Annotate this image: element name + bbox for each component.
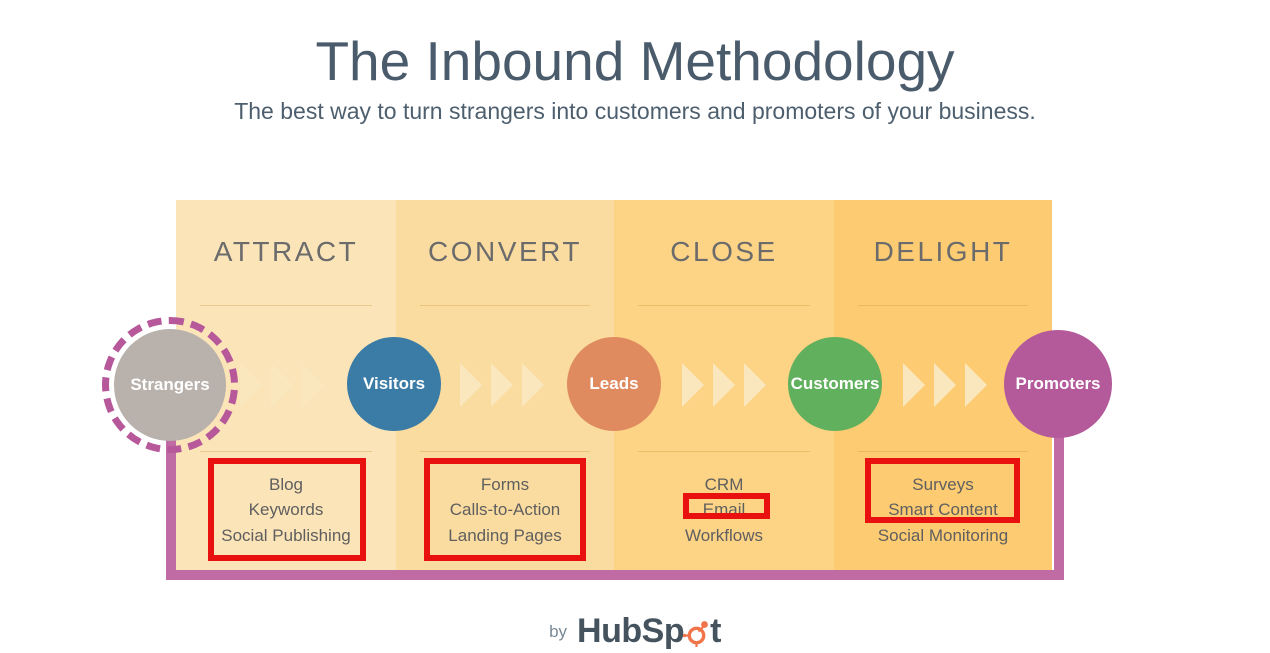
stage-rule-bottom [420,451,590,452]
chevron-right-icon [682,363,704,407]
stage-label-delight: DELIGHT [834,236,1052,268]
stage-rule-top [858,305,1028,306]
stage-label-close: CLOSE [614,236,834,268]
stage-rule-top [420,305,590,306]
inbound-methodology-graphic: The Inbound Methodology The best way to … [0,0,1270,653]
tool-list-delight: Surveys Smart Content Social Monitoring [834,472,1052,549]
persona-circle-strangers[interactable]: Strangers [114,329,226,441]
chevron-right-icon [744,363,766,407]
persona-circle-customers[interactable]: Customers [788,337,882,431]
persona-circle-visitors[interactable]: Visitors [347,337,441,431]
tool-list-attract: Blog Keywords Social Publishing [176,472,396,549]
stage-rule-bottom [638,451,810,452]
arrow-group [460,363,544,407]
page-title: The Inbound Methodology [0,33,1270,91]
stage-label-convert: CONVERT [396,236,614,268]
arrow-group [240,363,324,407]
chevron-right-icon [460,363,482,407]
tool-item[interactable]: Blog [176,472,396,498]
hubspot-wordmark-tail: t [710,612,721,651]
hubspot-sprocket-icon [683,620,709,650]
persona-label: Promoters [1015,374,1100,394]
persona-label: Leads [589,374,638,394]
tool-item[interactable]: Email [614,497,834,523]
chevron-right-icon [934,363,956,407]
tool-item[interactable]: Workflows [614,523,834,549]
persona-circle-promoters[interactable]: Promoters [1004,330,1112,438]
persona-label: Visitors [363,374,425,394]
by-label: by [549,622,567,642]
chevron-right-icon [240,363,262,407]
tool-item[interactable]: Social Monitoring [834,523,1052,549]
chevron-right-icon [903,363,925,407]
tool-list-convert: Forms Calls-to-Action Landing Pages [396,472,614,549]
stage-rule-top [200,305,372,306]
tool-item[interactable]: Surveys [834,472,1052,498]
chevron-right-icon [271,363,293,407]
tool-item[interactable]: CRM [614,472,834,498]
persona-circle-leads[interactable]: Leads [567,337,661,431]
chevron-right-icon [522,363,544,407]
tool-item[interactable]: Landing Pages [396,523,614,549]
chevron-right-icon [965,363,987,407]
tool-list-close: CRM Email Workflows [614,472,834,549]
arrow-group [682,363,766,407]
chevron-right-icon [491,363,513,407]
page-subtitle: The best way to turn strangers into cust… [0,98,1270,125]
tool-item[interactable]: Social Publishing [176,523,396,549]
hubspot-logo[interactable]: HubSp t [577,612,721,651]
tool-item[interactable]: Calls-to-Action [396,497,614,523]
stage-rule-top [638,305,810,306]
tool-item[interactable]: Forms [396,472,614,498]
tool-item[interactable]: Keywords [176,497,396,523]
hubspot-wordmark: HubSp [577,612,684,651]
chevron-right-icon [302,363,324,407]
stage-label-attract: ATTRACT [176,236,396,268]
tool-item[interactable]: Smart Content [834,497,1052,523]
arrow-group [903,363,987,407]
chevron-right-icon [713,363,735,407]
stage-rule-bottom [858,451,1028,452]
persona-label: Strangers [130,375,209,395]
stage-rule-bottom [200,451,372,452]
persona-label: Customers [791,374,880,394]
footer-attribution: by HubSp t [0,612,1270,651]
